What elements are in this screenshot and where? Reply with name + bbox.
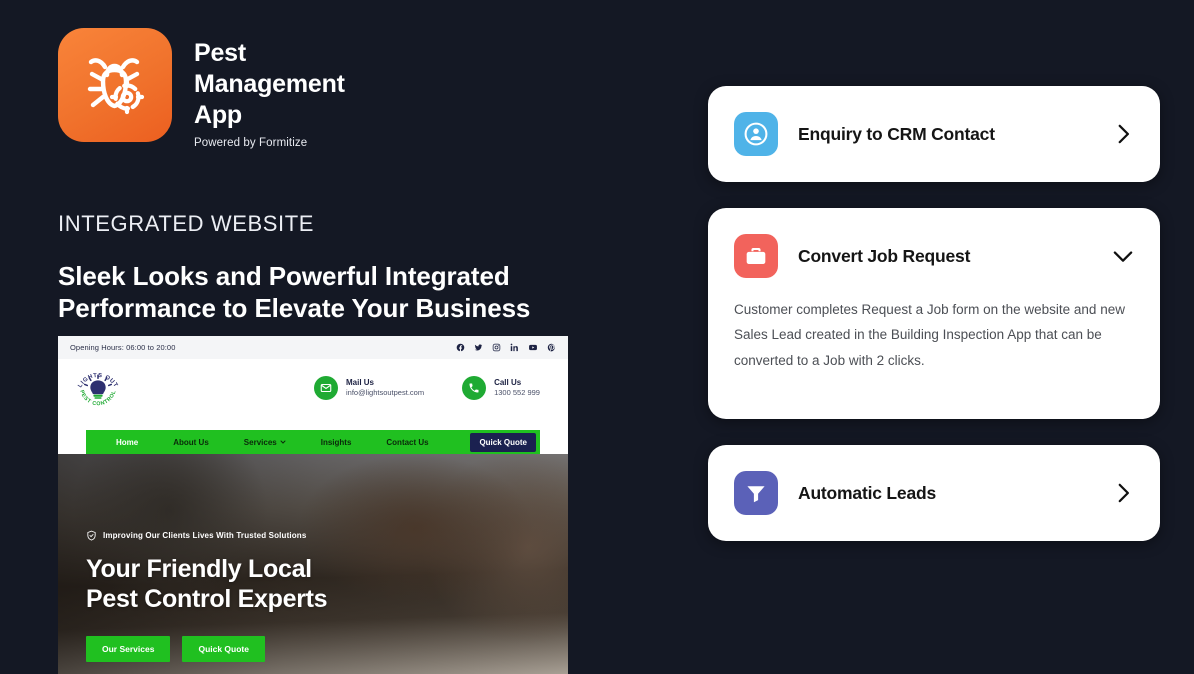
brand-name-line-2: Management (194, 69, 345, 100)
hero-title-line-1: Your Friendly Local (86, 555, 327, 585)
nav-item-services[interactable]: Services (244, 438, 286, 447)
powered-by-label: Powered by Formitize (194, 137, 345, 149)
nav-label-insights: Insights (321, 438, 352, 447)
nav-label-home: Home (116, 438, 138, 447)
contact-call-value: 1300 552 999 (494, 388, 540, 398)
social-links (456, 343, 556, 352)
contact-call-label: Call Us (494, 378, 540, 388)
our-services-button[interactable]: Our Services (86, 636, 170, 662)
contact-mail-value: info@lightsoutpest.com (346, 388, 424, 398)
instagram-icon[interactable] (492, 343, 501, 352)
app-logo-tile (58, 28, 172, 142)
website-hero-content: Improving Our Clients Lives With Trusted… (86, 530, 327, 662)
accordion-item-automatic-leads[interactable]: Automatic Leads (708, 445, 1160, 541)
funnel-icon (734, 471, 778, 515)
accordion-title: Convert Job Request (798, 246, 1090, 267)
nav-item-home[interactable]: Home (116, 438, 138, 447)
chevron-right-icon[interactable] (1110, 480, 1136, 506)
chevron-down-icon (280, 439, 286, 445)
hero-badge-text: Improving Our Clients Lives With Trusted… (103, 531, 306, 540)
website-hero-banner: Improving Our Clients Lives With Trusted… (58, 454, 568, 674)
accordion-title: Enquiry to CRM Contact (798, 124, 1090, 145)
contact-call[interactable]: Call Us 1300 552 999 (462, 376, 540, 400)
briefcase-icon (734, 234, 778, 278)
nav-label-services: Services (244, 438, 277, 447)
accordion-header[interactable]: Automatic Leads (734, 471, 1136, 515)
twitter-icon[interactable] (474, 343, 483, 352)
brand-lockup: Pest Management App Powered by Formitize (58, 28, 658, 149)
hero-quick-quote-button[interactable]: Quick Quote (182, 636, 265, 662)
chevron-down-icon[interactable] (1110, 243, 1136, 269)
headline-line-2: Performance to Elevate Your Business (58, 293, 658, 325)
contact-person-icon (734, 112, 778, 156)
contact-mail-label: Mail Us (346, 378, 424, 388)
nav-label-contact-us: Contact Us (386, 438, 428, 447)
nav-item-contact-us[interactable]: Contact Us (386, 438, 428, 447)
nav-item-about-us[interactable]: About Us (173, 438, 209, 447)
hero-title-line-2: Pest Control Experts (86, 585, 327, 615)
header-contacts: Mail Us info@lightsoutpest.com Call Us 1… (314, 376, 540, 400)
website-header: LIGHTS OUT PEST CONTROL Mail Us info@lig… (58, 359, 568, 417)
left-column: Pest Management App Powered by Formitize… (58, 28, 658, 325)
brand-name-line-1: Pest (194, 38, 345, 69)
page-root: Pest Management App Powered by Formitize… (0, 0, 1194, 674)
brand-name-line-3: App (194, 100, 345, 131)
bug-target-icon (79, 49, 151, 121)
brand-text-block: Pest Management App Powered by Formitize (194, 28, 345, 149)
nav-item-insights[interactable]: Insights (321, 438, 352, 447)
website-hero-buttons: Our Services Quick Quote (86, 636, 327, 662)
accordion-header[interactable]: Convert Job Request (734, 234, 1136, 278)
accordion-title: Automatic Leads (798, 483, 1090, 504)
envelope-icon (314, 376, 338, 400)
accordion-item-enquiry-to-crm-contact[interactable]: Enquiry to CRM Contact (708, 86, 1160, 182)
accordion-header[interactable]: Enquiry to CRM Contact (734, 112, 1136, 156)
accordion-body-text: Customer completes Request a Job form on… (734, 297, 1136, 373)
hero-badge: Improving Our Clients Lives With Trusted… (86, 530, 327, 541)
headline-line-1: Sleek Looks and Powerful Integrated (58, 261, 658, 293)
section-eyebrow: INTEGRATED WEBSITE (58, 211, 658, 237)
facebook-icon[interactable] (456, 343, 465, 352)
opening-hours-text: Opening Hours: 06:00 to 20:00 (70, 343, 175, 352)
lights-out-pest-control-logo: LIGHTS OUT PEST CONTROL (72, 365, 124, 411)
shield-check-icon (86, 530, 97, 541)
contact-mail[interactable]: Mail Us info@lightsoutpest.com (314, 376, 424, 400)
linkedin-icon[interactable] (510, 343, 519, 352)
website-hero-title: Your Friendly Local Pest Control Experts (86, 555, 327, 614)
website-navbar: Home About Us Services Insights Contact … (86, 430, 540, 454)
website-topbar: Opening Hours: 06:00 to 20:00 (58, 336, 568, 359)
nav-label-about-us: About Us (173, 438, 209, 447)
nav-quick-quote-button[interactable]: Quick Quote (470, 433, 536, 452)
feature-accordion: Enquiry to CRM Contact Convert Job Reque… (708, 86, 1160, 567)
phone-icon (462, 376, 486, 400)
website-preview: Opening Hours: 06:00 to 20:00 (58, 336, 568, 674)
chevron-right-icon[interactable] (1110, 121, 1136, 147)
page-title: Sleek Looks and Powerful Integrated Perf… (58, 261, 658, 324)
accordion-item-convert-job-request[interactable]: Convert Job Request Customer completes R… (708, 208, 1160, 419)
youtube-icon[interactable] (528, 343, 538, 352)
pinterest-icon[interactable] (547, 343, 556, 352)
